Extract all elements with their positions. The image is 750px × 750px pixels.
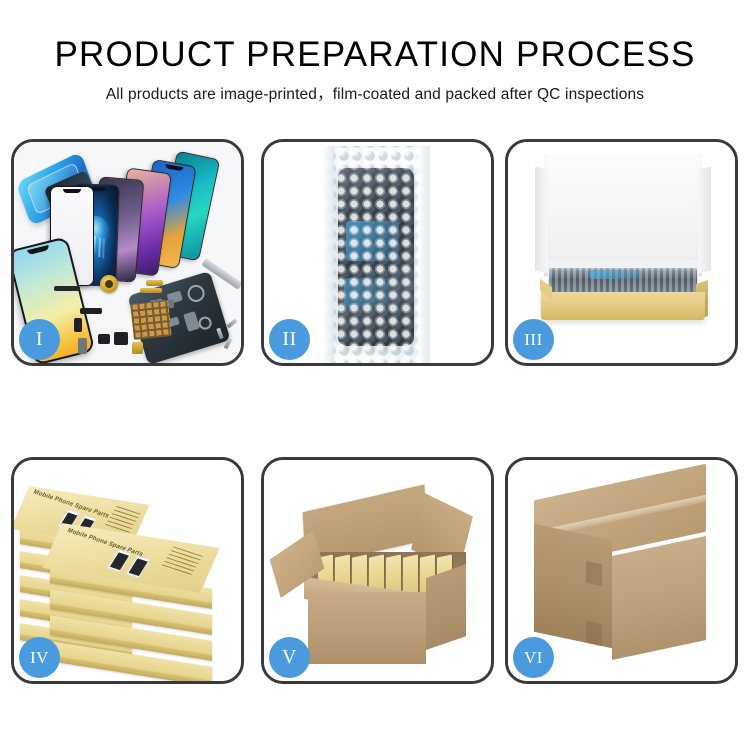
step-badge-1: I (19, 319, 60, 360)
part-camera-module-icon (114, 332, 128, 345)
sealed-carton-right-face (612, 536, 706, 660)
sealed-carton-left-face (534, 524, 612, 649)
carton-tape-tab-icon (586, 621, 602, 646)
step-badge-6: VI (513, 637, 554, 678)
step-badge-5: V (269, 637, 310, 678)
part-camera-module-icon (98, 334, 110, 344)
box-lid-spec-lines (104, 506, 140, 534)
step-badge-2: II (269, 319, 310, 360)
product-preparation-infographic: PRODUCT PREPARATION PROCESS All products… (0, 0, 750, 750)
part-speaker-mesh-icon (54, 286, 80, 291)
part-charging-port-icon (132, 342, 143, 354)
part-flex-cable-icon (140, 288, 162, 293)
mailer-box-front-kraft (541, 292, 705, 320)
carton-side-right (426, 564, 466, 650)
part-sim-tray-icon (78, 338, 87, 354)
process-step-panel-2: II (261, 139, 494, 366)
tweezers-icon (202, 258, 241, 289)
bubble-wrap-sleeve-icon (322, 146, 430, 363)
packed-parts-row-icon (549, 268, 697, 294)
part-copper-mesh-icon (130, 300, 172, 340)
process-step-panel-1: I (11, 139, 244, 366)
header: PRODUCT PREPARATION PROCESS All products… (0, 34, 750, 105)
screw-icon (226, 319, 237, 329)
carton-tape-tab-icon (586, 561, 602, 586)
step-badge-4: IV (19, 637, 60, 678)
carton-front-face (308, 592, 426, 664)
process-step-panel-3: III (505, 139, 738, 366)
step-badge-3: III (513, 319, 554, 360)
process-step-panel-4: Mobile Phone Spare Parts Mobile Phone Sp… (11, 457, 244, 684)
part-flex-cable-icon (146, 280, 163, 286)
box-lid-spec-lines (160, 546, 203, 577)
part-connector-icon (80, 308, 102, 314)
mailer-box-lid-icon (544, 154, 702, 276)
box-lid-screen-icon (126, 555, 151, 578)
part-vibration-motor-icon (100, 275, 118, 293)
wrap-seal-right (418, 146, 430, 363)
process-step-grid: I II III (11, 139, 739, 684)
process-step-panel-6: VI (505, 457, 738, 684)
page-subtitle: All products are image-printed，film-coat… (0, 85, 750, 105)
screw-icon (224, 338, 233, 350)
screw-icon (216, 328, 224, 340)
bubble-wrap-texture-layer (322, 146, 430, 363)
process-step-panel-5: V (261, 457, 494, 684)
part-connector-icon (74, 318, 82, 332)
page-title: PRODUCT PREPARATION PROCESS (0, 34, 750, 76)
wrap-seal-left (322, 146, 334, 363)
